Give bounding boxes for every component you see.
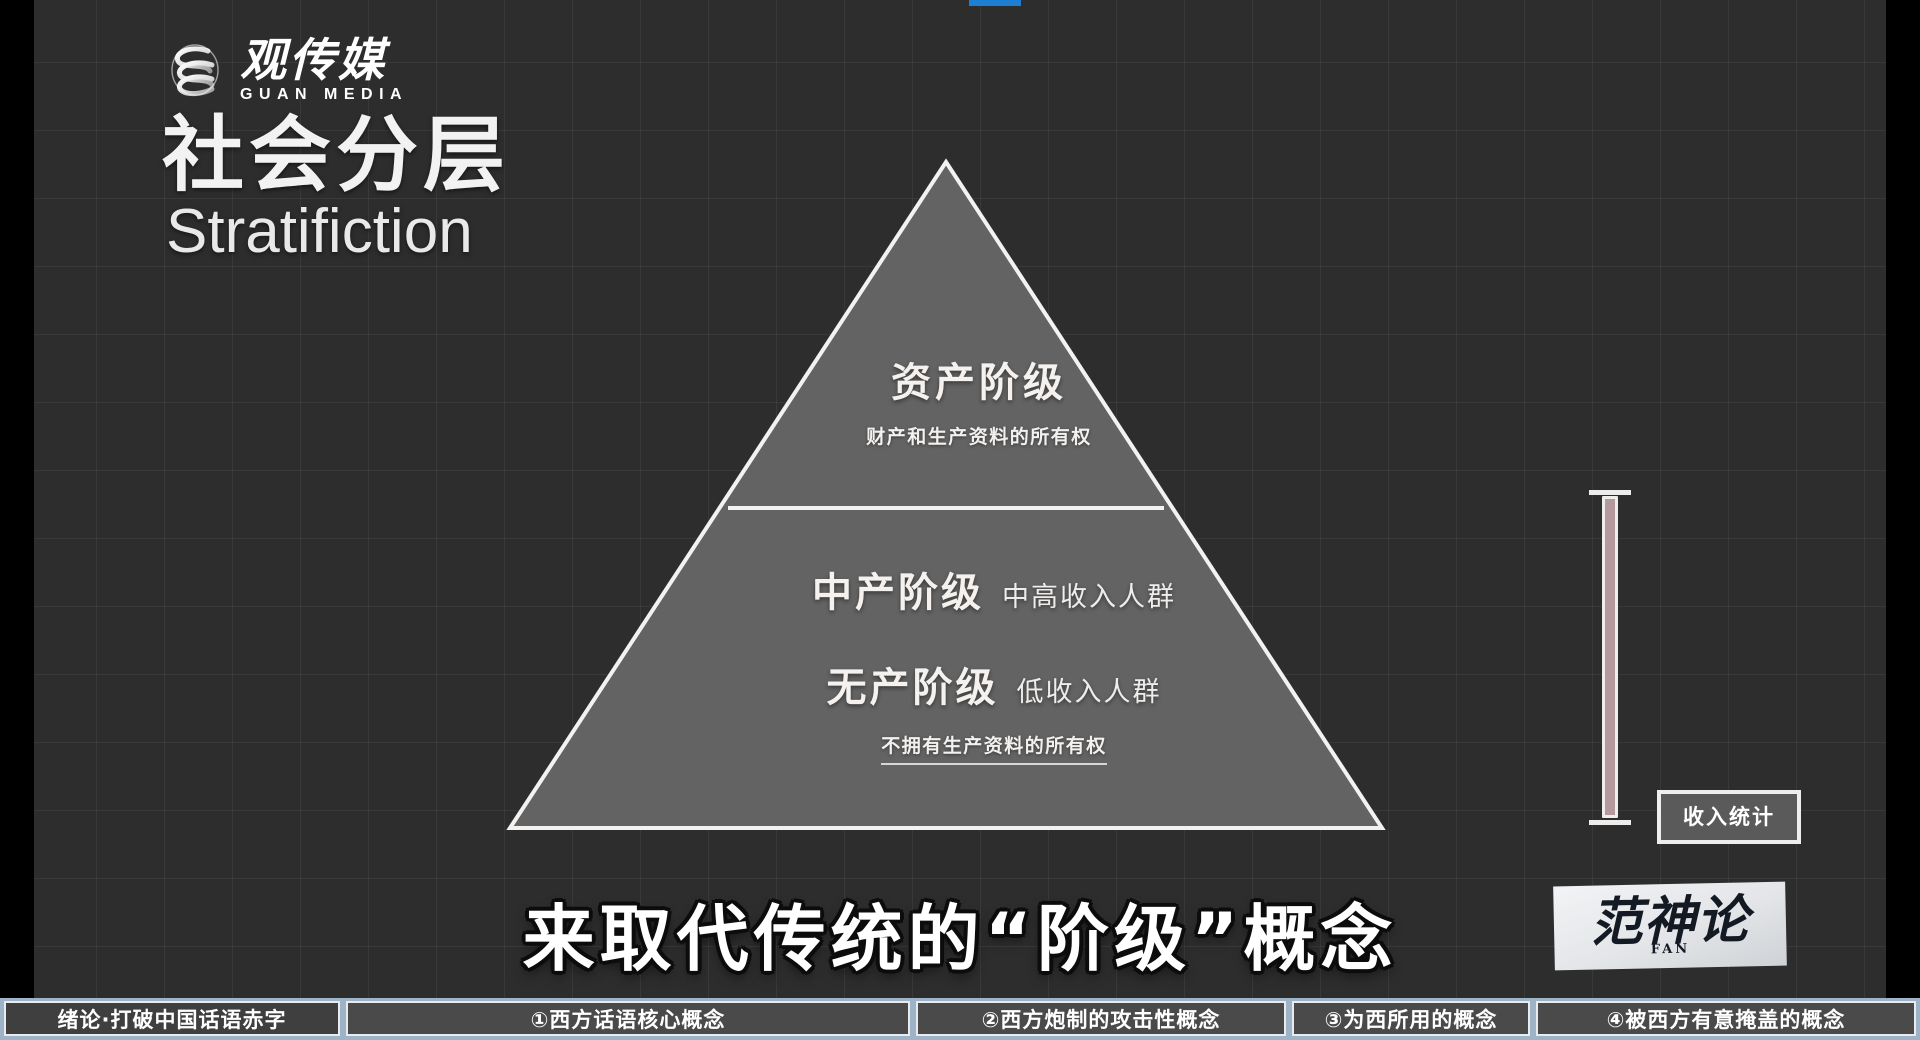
nav-item-section-1[interactable]: ①西方话语核心概念: [346, 1001, 910, 1036]
progress-strip: [969, 0, 1021, 6]
income-bracket-cap-top: [1589, 490, 1631, 495]
income-bracket-icon: [1589, 490, 1631, 825]
tier-lower-qualifier: 低收入人群: [1017, 670, 1162, 709]
tier-middle-line: 中产阶级 中高收入人群: [634, 560, 1354, 618]
slide-stage: 观传媒 GUAN MEDIA 社会分层 Stratifiction 资产阶级 财…: [0, 0, 1920, 1040]
income-bracket-cap-bottom: [1589, 820, 1631, 825]
brand-name-cn: 观传媒: [240, 36, 408, 84]
brand-name-en: GUAN MEDIA: [240, 86, 408, 104]
brand-wordmark: 观传媒 GUAN MEDIA: [240, 36, 408, 104]
nav-item-section-2[interactable]: ②西方炮制的攻击性概念: [916, 1001, 1286, 1036]
channel-watermark-inner: 范神论 FAN: [1590, 894, 1750, 958]
nav-item-section-4[interactable]: ④被西方有意掩盖的概念: [1536, 1001, 1916, 1036]
channel-watermark-cn: 范神论: [1590, 894, 1750, 949]
income-bracket-bar: [1602, 496, 1618, 818]
pyramid-tier-lower: 无产阶级 低收入人群 不拥有生产资料的所有权: [634, 655, 1354, 765]
tier-upper-name: 资产阶级: [769, 350, 1189, 408]
income-scale-label: 收入统计: [1657, 790, 1801, 844]
brand-title-block: 观传媒 GUAN MEDIA 社会分层 Stratifiction: [162, 36, 510, 266]
tier-lower-name: 无产阶级: [827, 655, 999, 713]
slide-canvas: 观传媒 GUAN MEDIA 社会分层 Stratifiction 资产阶级 财…: [34, 0, 1886, 1040]
nav-item-intro[interactable]: 绪论·打破中国话语赤字: [4, 1001, 340, 1036]
page-title-en: Stratifiction: [166, 198, 510, 266]
income-scale-group: 收入统计: [1589, 490, 1631, 825]
pyramid-tier-upper: 资产阶级 财产和生产资料的所有权: [769, 350, 1189, 449]
tier-upper-note: 财产和生产资料的所有权: [769, 422, 1189, 449]
tier-lower-line: 无产阶级 低收入人群: [634, 655, 1354, 713]
pyramid-tier-middle: 中产阶级 中高收入人群: [634, 560, 1354, 618]
letterbox-right: [1886, 0, 1920, 1040]
brand-row: 观传媒 GUAN MEDIA: [162, 36, 510, 104]
tier-lower-note: 不拥有生产资料的所有权: [881, 731, 1107, 765]
tier-middle-qualifier: 中高收入人群: [1002, 575, 1176, 614]
tier-middle-name: 中产阶级: [812, 560, 984, 618]
page-title-cn: 社会分层: [162, 110, 510, 202]
tier-lower-note-wrap: 不拥有生产资料的所有权: [634, 713, 1354, 765]
letterbox-left: [0, 0, 34, 1040]
guan-media-sphere-logo-icon: [162, 37, 228, 103]
caption-text: 来取代传统的“阶级”概念: [523, 880, 1398, 985]
channel-watermark: 范神论 FAN: [1553, 882, 1787, 971]
nav-item-section-3[interactable]: ③为西所用的概念: [1292, 1001, 1530, 1036]
chapter-navbar: 绪论·打破中国话语赤字 ①西方话语核心概念 ②西方炮制的攻击性概念 ③为西所用的…: [0, 998, 1920, 1040]
